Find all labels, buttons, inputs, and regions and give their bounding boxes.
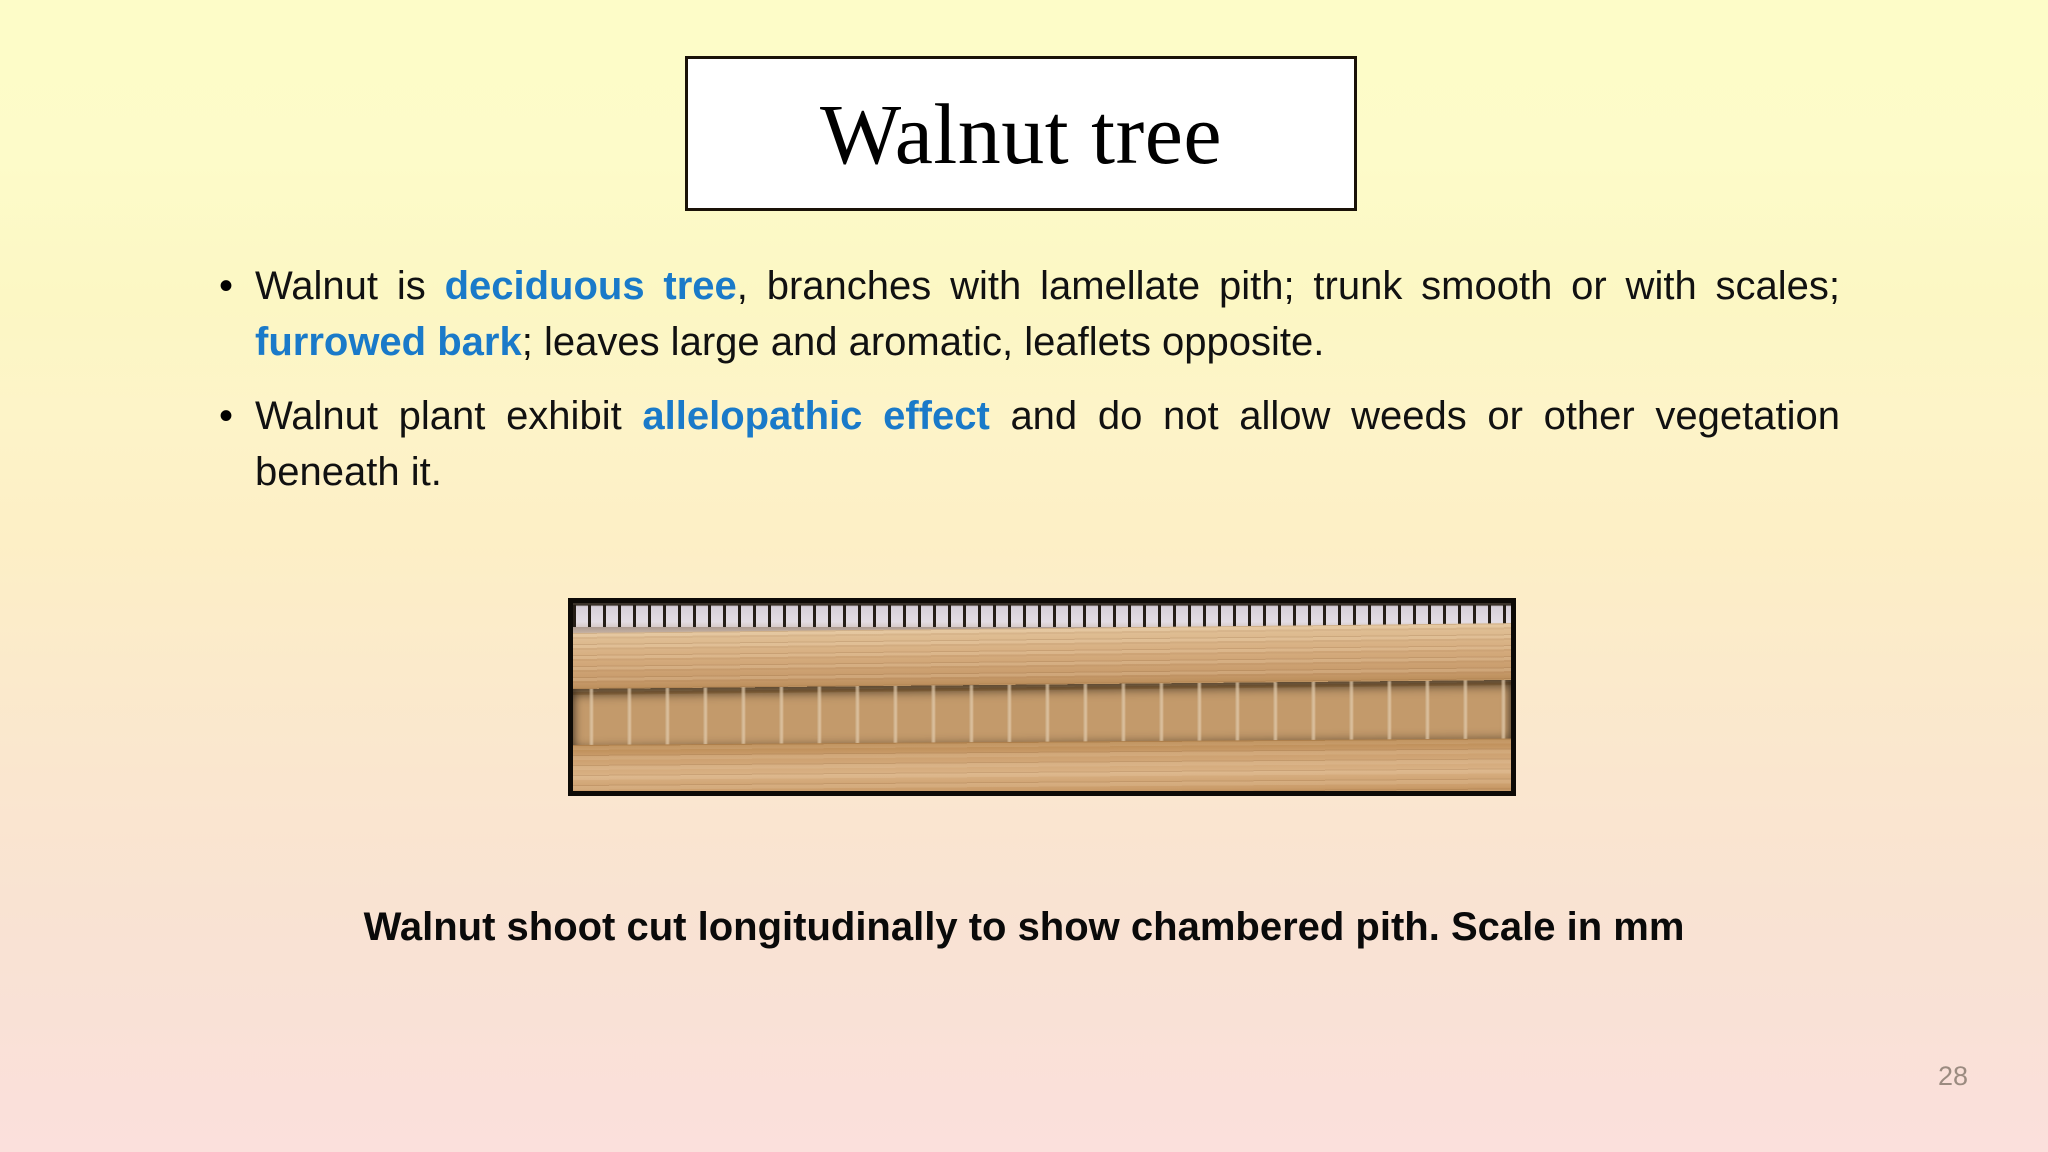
bullet1-highlight-1: deciduous tree	[445, 264, 737, 308]
title-box: Walnut tree	[685, 56, 1357, 211]
bullet1-part1: Walnut is	[255, 264, 445, 308]
figure-caption: Walnut shoot cut longitudinally to show …	[0, 905, 2048, 950]
page-title: Walnut tree	[820, 91, 1222, 177]
bullet-list: • Walnut is deciduous tree, branches wit…	[215, 258, 1840, 518]
bullet-marker-icon: •	[215, 388, 255, 444]
bullet1-part3: ; leaves large and aromatic, leaflets op…	[522, 320, 1325, 364]
page-number: 28	[1938, 1061, 1968, 1092]
list-item: • Walnut plant exhibit allelopathic effe…	[215, 388, 1840, 500]
bullet-text-2: Walnut plant exhibit allelopathic effect…	[255, 388, 1840, 500]
bullet-text-1: Walnut is deciduous tree, branches with …	[255, 258, 1840, 370]
photo-content	[573, 603, 1511, 791]
bullet-marker-icon: •	[215, 258, 255, 314]
bullet2-part1: Walnut plant exhibit	[255, 394, 642, 438]
wood-lower-band	[573, 738, 1511, 791]
list-item: • Walnut is deciduous tree, branches wit…	[215, 258, 1840, 370]
bullet1-highlight-2: furrowed bark	[255, 320, 522, 364]
specimen-photo	[568, 598, 1516, 796]
bullet2-highlight-1: allelopathic effect	[642, 394, 989, 438]
bullet1-part2: , branches with lamellate pith; trunk sm…	[737, 264, 1840, 308]
slide-canvas: Walnut tree • Walnut is deciduous tree, …	[0, 0, 2048, 1152]
